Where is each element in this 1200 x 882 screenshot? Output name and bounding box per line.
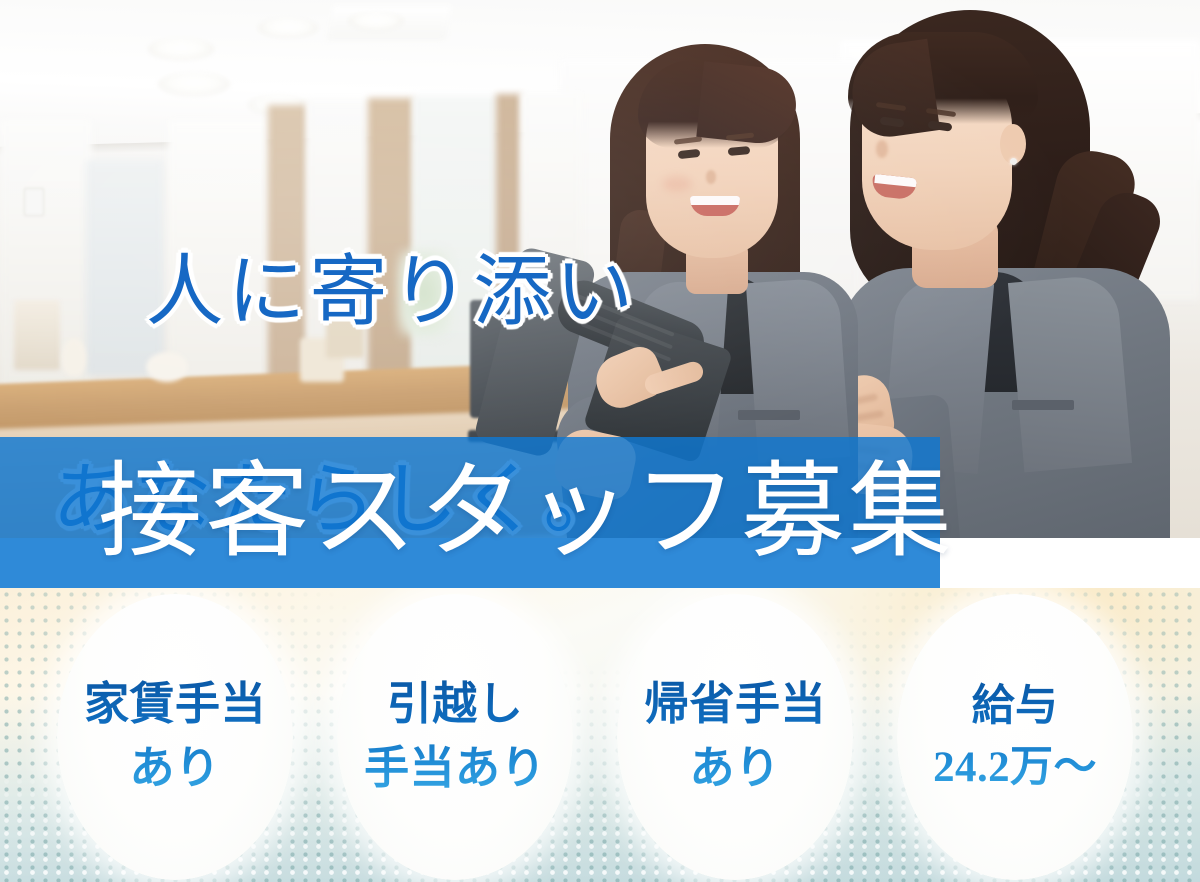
wall-switch [24, 188, 44, 216]
downlight-icon [258, 18, 318, 38]
nose [876, 140, 888, 158]
uniform-lapel [746, 277, 850, 463]
nose [706, 170, 716, 184]
earring [1010, 158, 1017, 165]
benefit-badge-rent-allowance[interactable]: 家賃手当 あり [57, 594, 293, 880]
benefit-badge-label: 家賃手当 あり [84, 673, 266, 801]
benefit-badge-label: 給与 24.2万〜 [933, 676, 1097, 798]
cheek [662, 176, 692, 192]
benefits-strip: 家賃手当 あり 引越し 手当あり 帰省手当 あり 給与 24.2万〜 [0, 588, 1200, 882]
uniform-lapel [1008, 274, 1132, 473]
smile [690, 196, 740, 216]
downlight-icon [348, 12, 404, 30]
benefit-badge-salary[interactable]: 給与 24.2万〜 [897, 594, 1133, 880]
uniform-pocket [1012, 400, 1074, 410]
downlight-icon [148, 38, 214, 60]
benefit-badge-list: 家賃手当 あり 引越し 手当あり 帰省手当 あり 給与 24.2万〜 [0, 588, 1200, 882]
benefit-badge-moving-allowance[interactable]: 引越し 手当あり [337, 594, 573, 880]
benefit-badge-label: 帰省手当 あり [644, 673, 826, 801]
teeth [690, 196, 740, 205]
benefit-badge-homecoming-allowance[interactable]: 帰省手当 あり [617, 594, 853, 880]
benefit-badge-label: 引越し 手当あり [364, 673, 546, 801]
banner-title: 接客スタッフ募集 [0, 437, 940, 588]
headline-line-1: 人に寄り添い [146, 248, 637, 335]
uniform-pocket [738, 410, 800, 420]
job-ad-poster: 人に寄り添い あなたらしく。 接客スタッフ募集 家賃手当 あり 引越し 手当あり… [0, 0, 1200, 882]
downlight-icon [158, 72, 230, 96]
